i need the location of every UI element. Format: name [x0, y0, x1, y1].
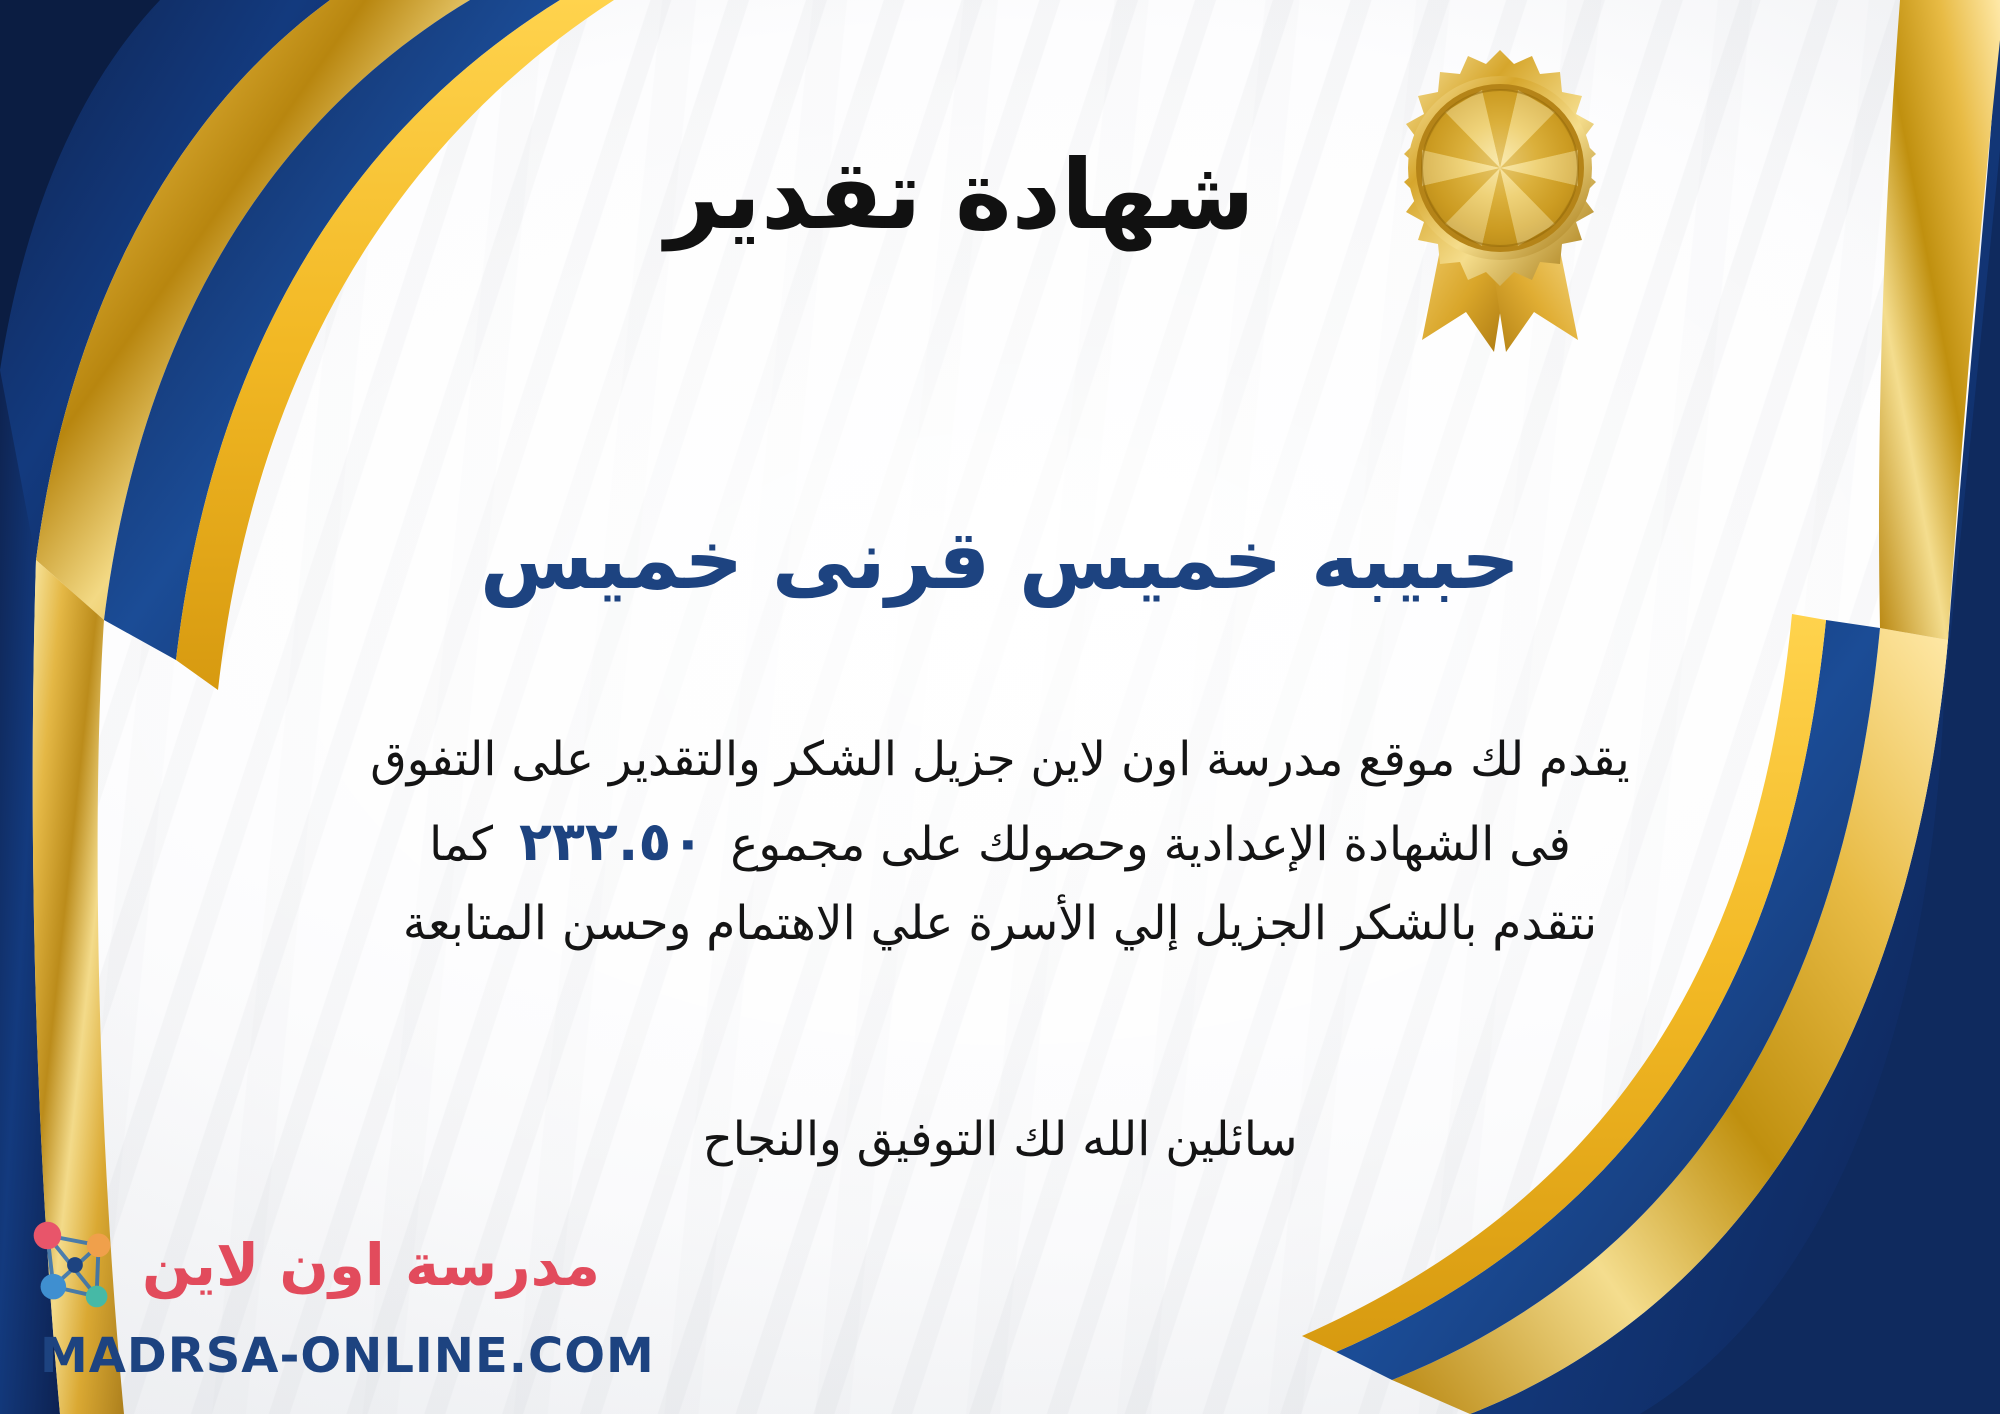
body-line-2-prefix: فى الشهادة الإعدادية وحصولك على مجموع: [730, 817, 1571, 872]
brand-logo-row: مدرسة اون لاين: [40, 1206, 600, 1324]
body-line-2-suffix: كما: [429, 817, 493, 872]
certificate-page: شهادة تقدير حبيبه خميس قرنى خميس يقدم لك…: [0, 0, 2000, 1414]
brand-name-arabic: مدرسة اون لاين: [142, 1235, 600, 1296]
total-score-value: ٢٣٢.٥٠: [493, 810, 730, 873]
body-line-1: يقدم لك موقع مدرسة اون لاين جزيل الشكر و…: [40, 722, 1960, 798]
brand-logo[interactable]: مدرسة اون لاين MADRSA-ONLINE.COM: [40, 1206, 600, 1366]
certificate-content: شهادة تقدير حبيبه خميس قرنى خميس يقدم لك…: [0, 0, 2000, 1414]
page-title: شهادة تقدير: [0, 140, 2000, 250]
certificate-body: يقدم لك موقع مدرسة اون لاين جزيل الشكر و…: [40, 722, 1960, 962]
body-line-2: فى الشهادة الإعدادية وحصولك على مجموع٢٣٢…: [40, 798, 1960, 885]
brand-website-url[interactable]: MADRSA-ONLINE.COM: [40, 1328, 600, 1384]
closing-wish: سائلين الله لك التوفيق والنجاح: [0, 1112, 2000, 1167]
recipient-name: حبيبه خميس قرنى خميس: [0, 512, 2000, 610]
body-line-3: نتقدم بالشكر الجزيل إلي الأسرة علي الاهت…: [40, 886, 1960, 962]
network-nodes-icon: [14, 1206, 132, 1324]
